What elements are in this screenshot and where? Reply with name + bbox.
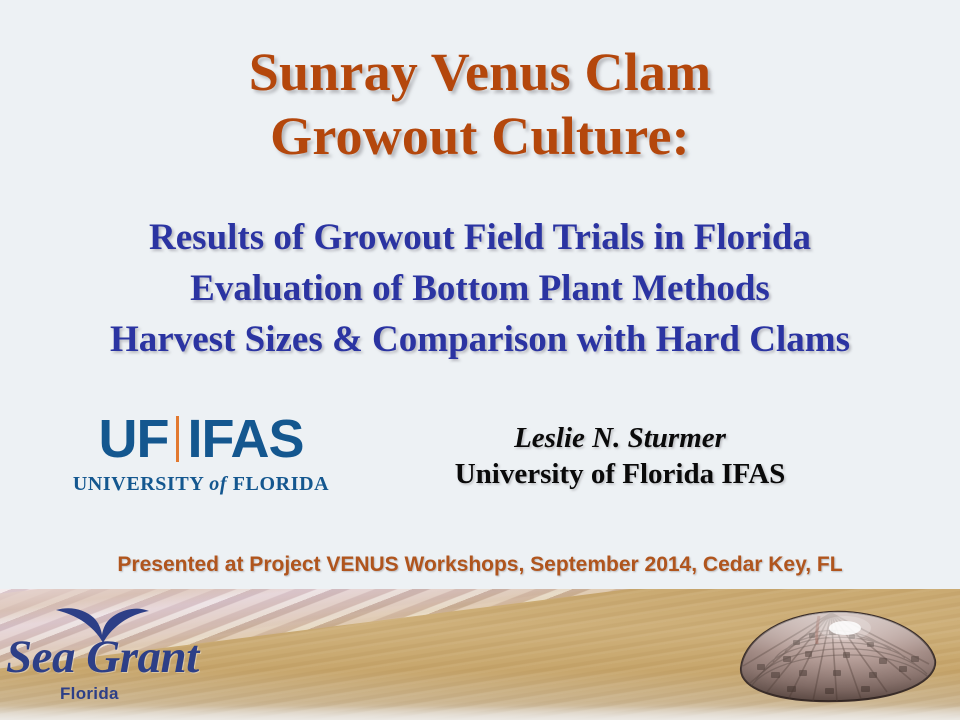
uf-logo-divider-bar — [176, 416, 179, 462]
sea-grant-state-label: Florida — [60, 684, 119, 703]
uf-tagline-florida: FLORIDA — [227, 473, 329, 495]
uf-tagline-university: UNIVERSITY — [73, 473, 209, 495]
uf-logo-uf-text: UF — [98, 412, 168, 466]
author-affiliation: University of Florida IFAS — [360, 456, 880, 493]
subtitle-line-3: Harvest Sizes & Comparison with Hard Cla… — [0, 314, 960, 365]
subtitle-line-2: Evaluation of Bottom Plant Methods — [0, 263, 960, 314]
author-name: Leslie N. Sturmer — [360, 420, 880, 456]
uf-ifas-logo: UF IFAS UNIVERSITY of FLORIDA — [66, 412, 336, 495]
uf-tagline-of: of — [209, 473, 227, 495]
author-block: Leslie N. Sturmer University of Florida … — [360, 420, 880, 493]
florida-sea-grant-logo: Sea Grant Florida — [2, 604, 192, 714]
slide-subtitle: Results of Growout Field Trials in Flori… — [0, 212, 960, 365]
sea-grant-wordmark: Sea Grant — [6, 630, 199, 684]
title-line-2: Growout Culture: — [0, 104, 960, 168]
slide-title: Sunray Venus Clam Growout Culture: — [0, 40, 960, 168]
uf-logo-ifas-text: IFAS — [187, 412, 303, 466]
presentation-slide: Sunray Venus Clam Growout Culture: Resul… — [0, 0, 960, 720]
title-line-1: Sunray Venus Clam — [0, 40, 960, 104]
uf-ifas-wordmark: UF IFAS — [66, 412, 336, 466]
subtitle-line-1: Results of Growout Field Trials in Flori… — [0, 212, 960, 263]
sunray-venus-clam-image — [733, 600, 943, 708]
uf-logo-tagline: UNIVERSITY of FLORIDA — [66, 473, 336, 495]
presentation-credit-line: Presented at Project VENUS Workshops, Se… — [0, 552, 960, 578]
